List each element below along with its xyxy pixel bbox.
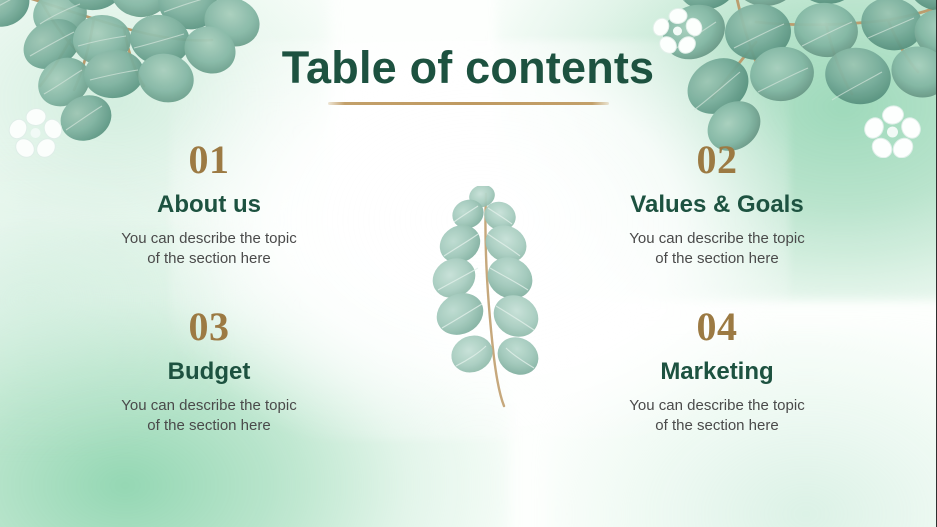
toc-description-04-line2: of the section here bbox=[618, 416, 816, 436]
title-underline-rule bbox=[328, 102, 609, 105]
toc-description-04: You can describe the topic of the sectio… bbox=[618, 396, 816, 436]
toc-description-03-line2: of the section here bbox=[110, 416, 308, 436]
title-block: Table of contents bbox=[0, 44, 936, 105]
toc-heading-02: Values & Goals bbox=[618, 192, 816, 218]
page-title: Table of contents bbox=[0, 44, 936, 93]
toc-item-03[interactable]: 03 Budget You can describe the topic of … bbox=[0, 307, 468, 474]
table-of-contents-grid: 01 About us You can describe the topic o… bbox=[0, 140, 936, 474]
toc-item-01[interactable]: 01 About us You can describe the topic o… bbox=[0, 140, 468, 307]
toc-description-03: You can describe the topic of the sectio… bbox=[110, 396, 308, 436]
toc-number-04: 04 bbox=[618, 307, 816, 347]
toc-item-02[interactable]: 02 Values & Goals You can describe the t… bbox=[468, 140, 936, 307]
toc-description-02: You can describe the topic of the sectio… bbox=[618, 229, 816, 269]
toc-number-01: 01 bbox=[110, 140, 308, 180]
toc-description-04-line1: You can describe the topic bbox=[618, 396, 816, 416]
toc-heading-01: About us bbox=[110, 192, 308, 218]
toc-description-01-line1: You can describe the topic bbox=[110, 229, 308, 249]
toc-description-02-line2: of the section here bbox=[618, 249, 816, 269]
toc-description-01-line2: of the section here bbox=[110, 249, 308, 269]
toc-number-02: 02 bbox=[618, 140, 816, 180]
toc-description-03-line1: You can describe the topic bbox=[110, 396, 308, 416]
toc-heading-04: Marketing bbox=[618, 359, 816, 385]
toc-heading-03: Budget bbox=[110, 359, 308, 385]
toc-item-04[interactable]: 04 Marketing You can describe the topic … bbox=[468, 307, 936, 474]
toc-description-01: You can describe the topic of the sectio… bbox=[110, 229, 308, 269]
toc-number-03: 03 bbox=[110, 307, 308, 347]
slide-table-of-contents: Table of contents 01 About us You can de… bbox=[0, 0, 937, 527]
toc-description-02-line1: You can describe the topic bbox=[618, 229, 816, 249]
